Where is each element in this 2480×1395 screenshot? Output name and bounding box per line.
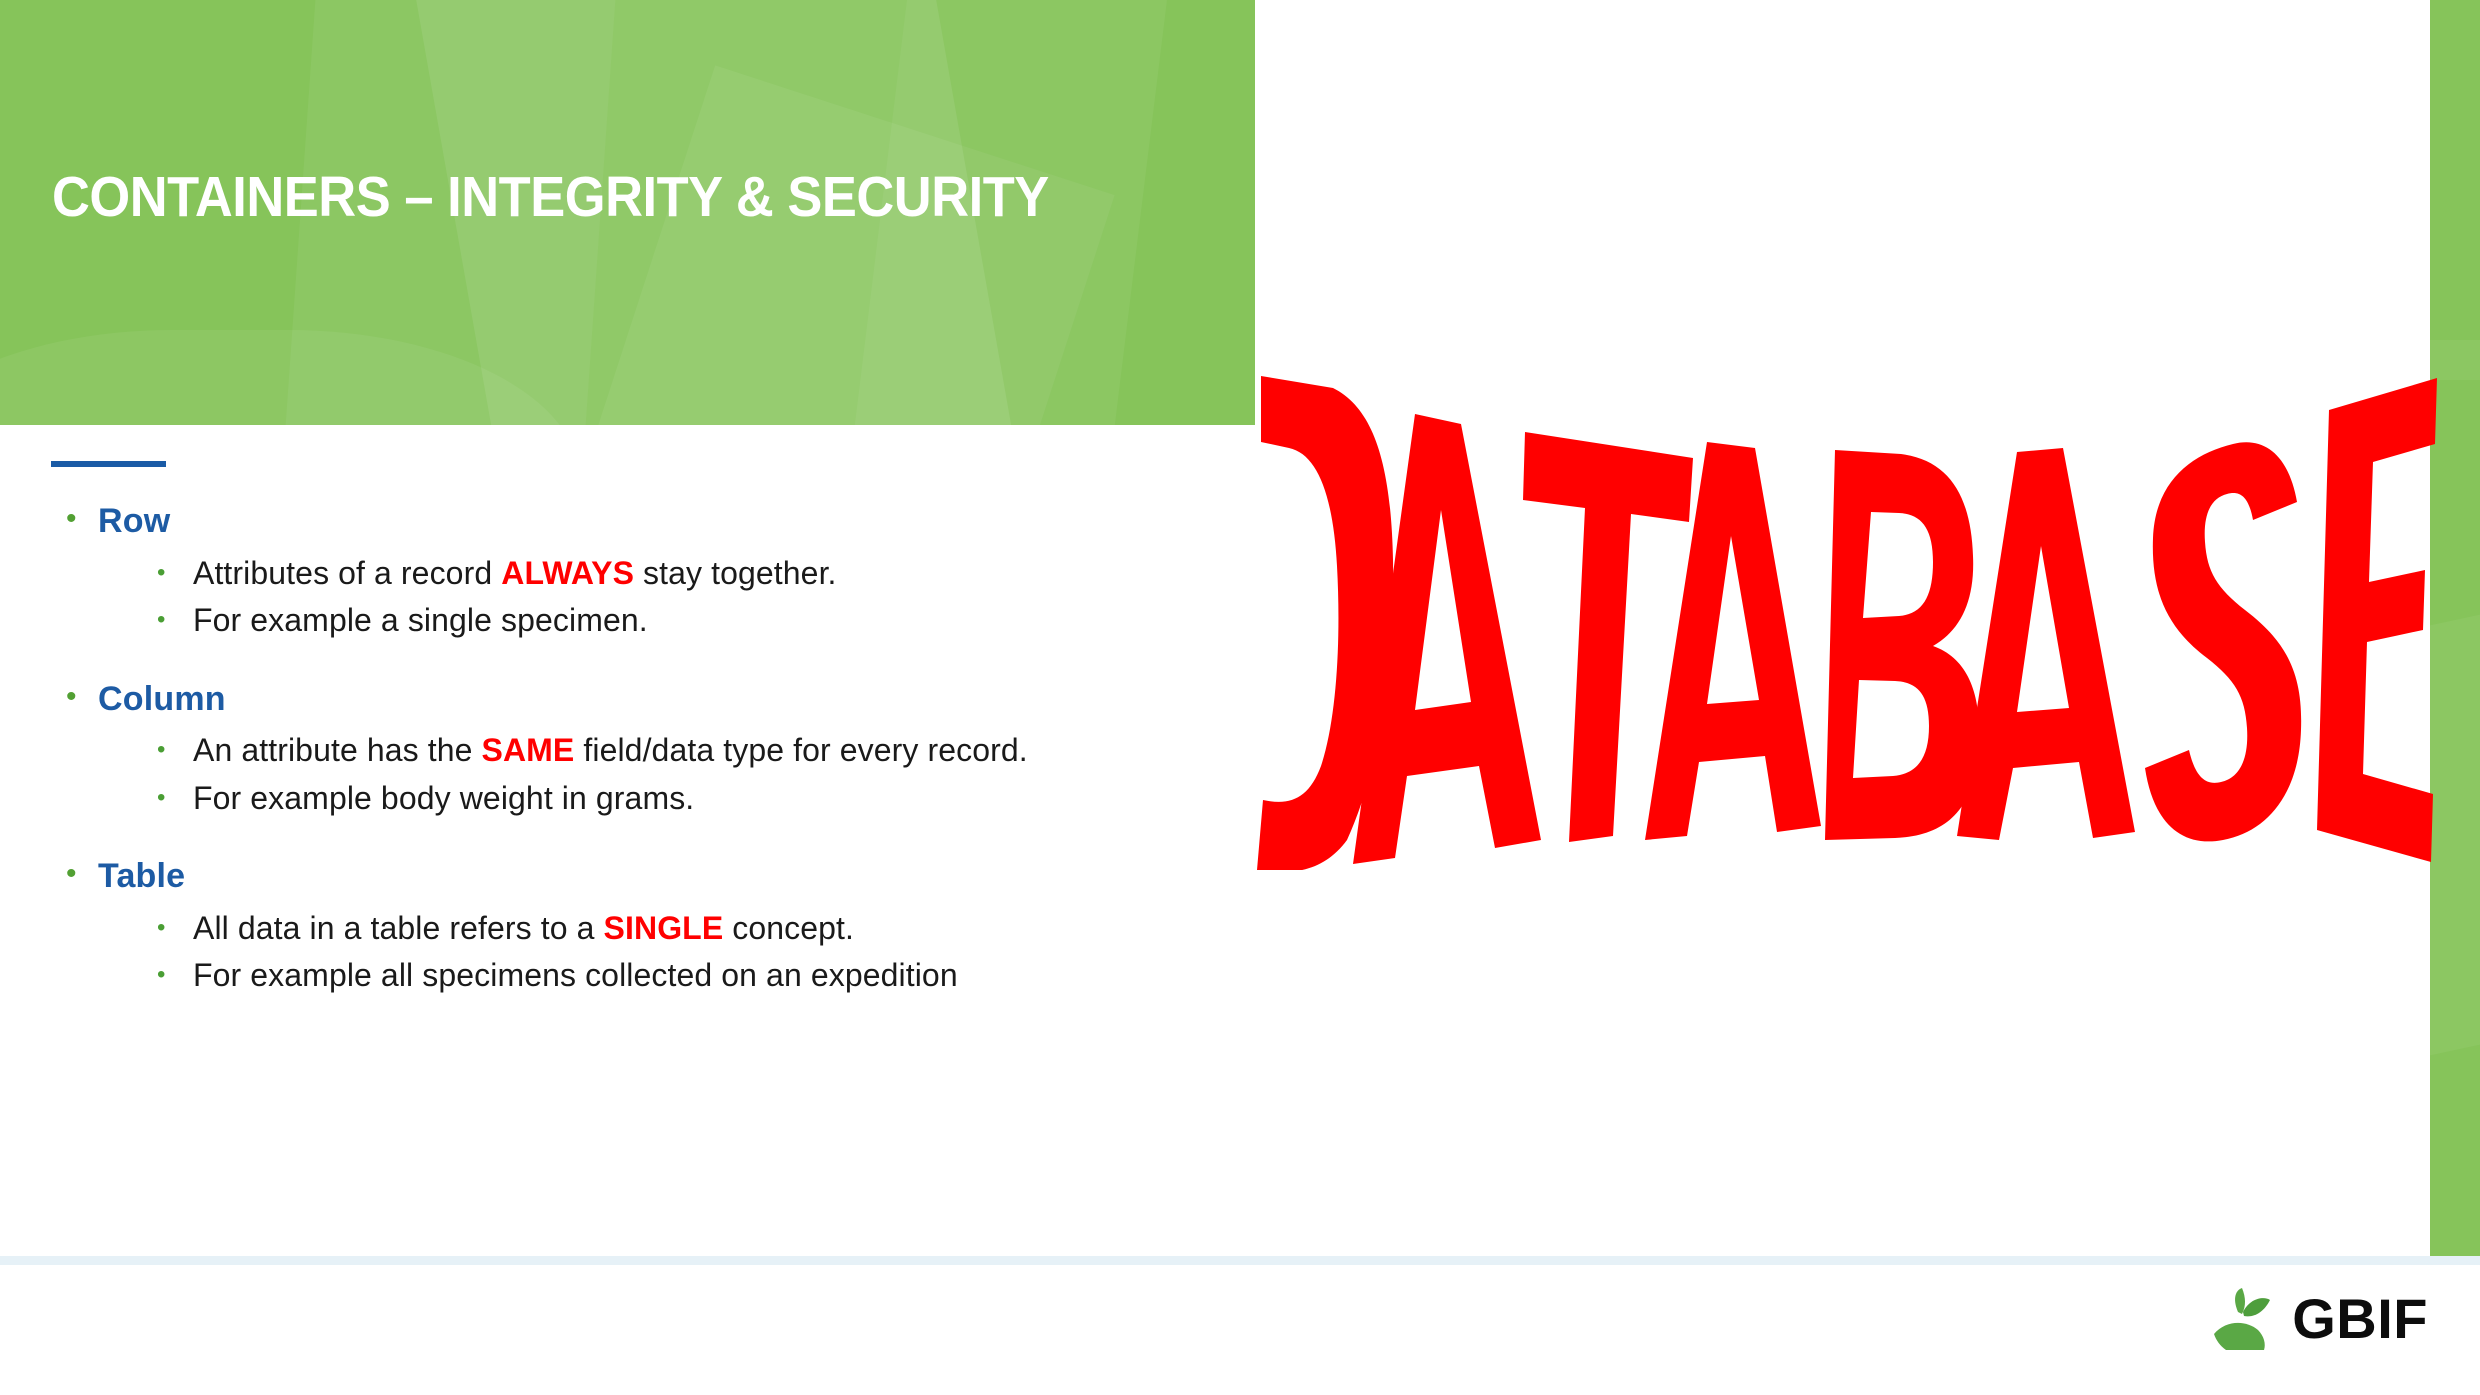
sub-bullet-text-pre: An attribute has the bbox=[193, 732, 482, 768]
bullet-heading-label: Table bbox=[98, 855, 185, 898]
sub-bullet-text-pre: For example body weight in grams. bbox=[193, 780, 694, 816]
gbif-logo-text: GBIF bbox=[2292, 1291, 2428, 1347]
bullet-group: •Row•Attributes of a record ALWAYS stay … bbox=[0, 500, 1260, 642]
bullet-content: •Row•Attributes of a record ALWAYS stay … bbox=[0, 500, 1260, 1003]
sub-bullet-text-pre: For example a single specimen. bbox=[193, 602, 648, 638]
bullet-heading-row: •Row bbox=[0, 500, 1260, 543]
sub-bullet-item: •An attribute has the SAME field/data ty… bbox=[0, 730, 1260, 772]
sub-bullet-text-pre: Attributes of a record bbox=[193, 555, 501, 591]
sub-bullet-text-post: stay together. bbox=[634, 555, 837, 591]
sub-bullet-dot-icon: • bbox=[157, 738, 193, 762]
sub-bullet-text-pre: All data in a table refers to a bbox=[193, 910, 604, 946]
sub-bullet-emphasis: SAME bbox=[482, 732, 575, 768]
bullet-dot-icon: • bbox=[66, 504, 98, 534]
sub-bullet-dot-icon: • bbox=[157, 916, 193, 940]
bullet-group: •Table•All data in a table refers to a S… bbox=[0, 855, 1260, 997]
sub-bullet-label: Attributes of a record ALWAYS stay toget… bbox=[193, 553, 837, 595]
sub-bullet-emphasis: ALWAYS bbox=[501, 555, 634, 591]
sub-bullet-label: For example body weight in grams. bbox=[193, 778, 694, 820]
bullet-heading-column: •Column bbox=[0, 678, 1260, 721]
sub-bullet-text-post: concept. bbox=[723, 910, 854, 946]
sub-bullet-dot-icon: • bbox=[157, 608, 193, 632]
sub-bullet-item: •For example all specimens collected on … bbox=[0, 955, 1260, 997]
bullet-heading-label: Column bbox=[98, 678, 226, 721]
sub-bullet-text-post: field/data type for every record. bbox=[574, 732, 1027, 768]
sub-bullet-dot-icon: • bbox=[157, 561, 193, 585]
slide-title: CONTAINERS – INTEGRITY & SECURITY bbox=[52, 168, 1049, 228]
banner-shape-3 bbox=[585, 65, 1114, 425]
slide-canvas: CONTAINERS – INTEGRITY & SECURITY •Row•A… bbox=[0, 0, 2480, 1395]
bullet-dot-icon: • bbox=[66, 859, 98, 889]
sub-bullet-item: •For example body weight in grams. bbox=[0, 778, 1260, 820]
leaf-sprout-icon bbox=[2212, 1288, 2284, 1350]
sub-bullet-item: •Attributes of a record ALWAYS stay toge… bbox=[0, 553, 1260, 595]
sub-bullet-dot-icon: • bbox=[157, 963, 193, 987]
gbif-logo: GBIF bbox=[2212, 1288, 2428, 1350]
sub-bullet-label: All data in a table refers to a SINGLE c… bbox=[193, 908, 854, 950]
bullet-heading-table: •Table bbox=[0, 855, 1260, 898]
sub-bullet-item: •For example a single specimen. bbox=[0, 600, 1260, 642]
bullet-dot-icon: • bbox=[66, 682, 98, 712]
blue-accent-rule bbox=[51, 461, 166, 467]
sub-bullet-item: •All data in a table refers to a SINGLE … bbox=[0, 908, 1260, 950]
bullet-heading-label: Row bbox=[98, 500, 170, 543]
sub-bullet-label: An attribute has the SAME field/data typ… bbox=[193, 730, 1028, 772]
sub-bullet-label: For example all specimens collected on a… bbox=[193, 955, 958, 997]
banner-shape-4 bbox=[0, 330, 580, 425]
sub-bullet-emphasis: SINGLE bbox=[604, 910, 724, 946]
title-banner: CONTAINERS – INTEGRITY & SECURITY bbox=[0, 0, 1255, 425]
database-wordart bbox=[1255, 370, 2440, 870]
sub-bullet-text-pre: For example all specimens collected on a… bbox=[193, 957, 958, 993]
footer-divider bbox=[0, 1256, 2480, 1265]
sub-bullet-dot-icon: • bbox=[157, 786, 193, 810]
bullet-group: •Column•An attribute has the SAME field/… bbox=[0, 678, 1260, 820]
sub-bullet-label: For example a single specimen. bbox=[193, 600, 648, 642]
